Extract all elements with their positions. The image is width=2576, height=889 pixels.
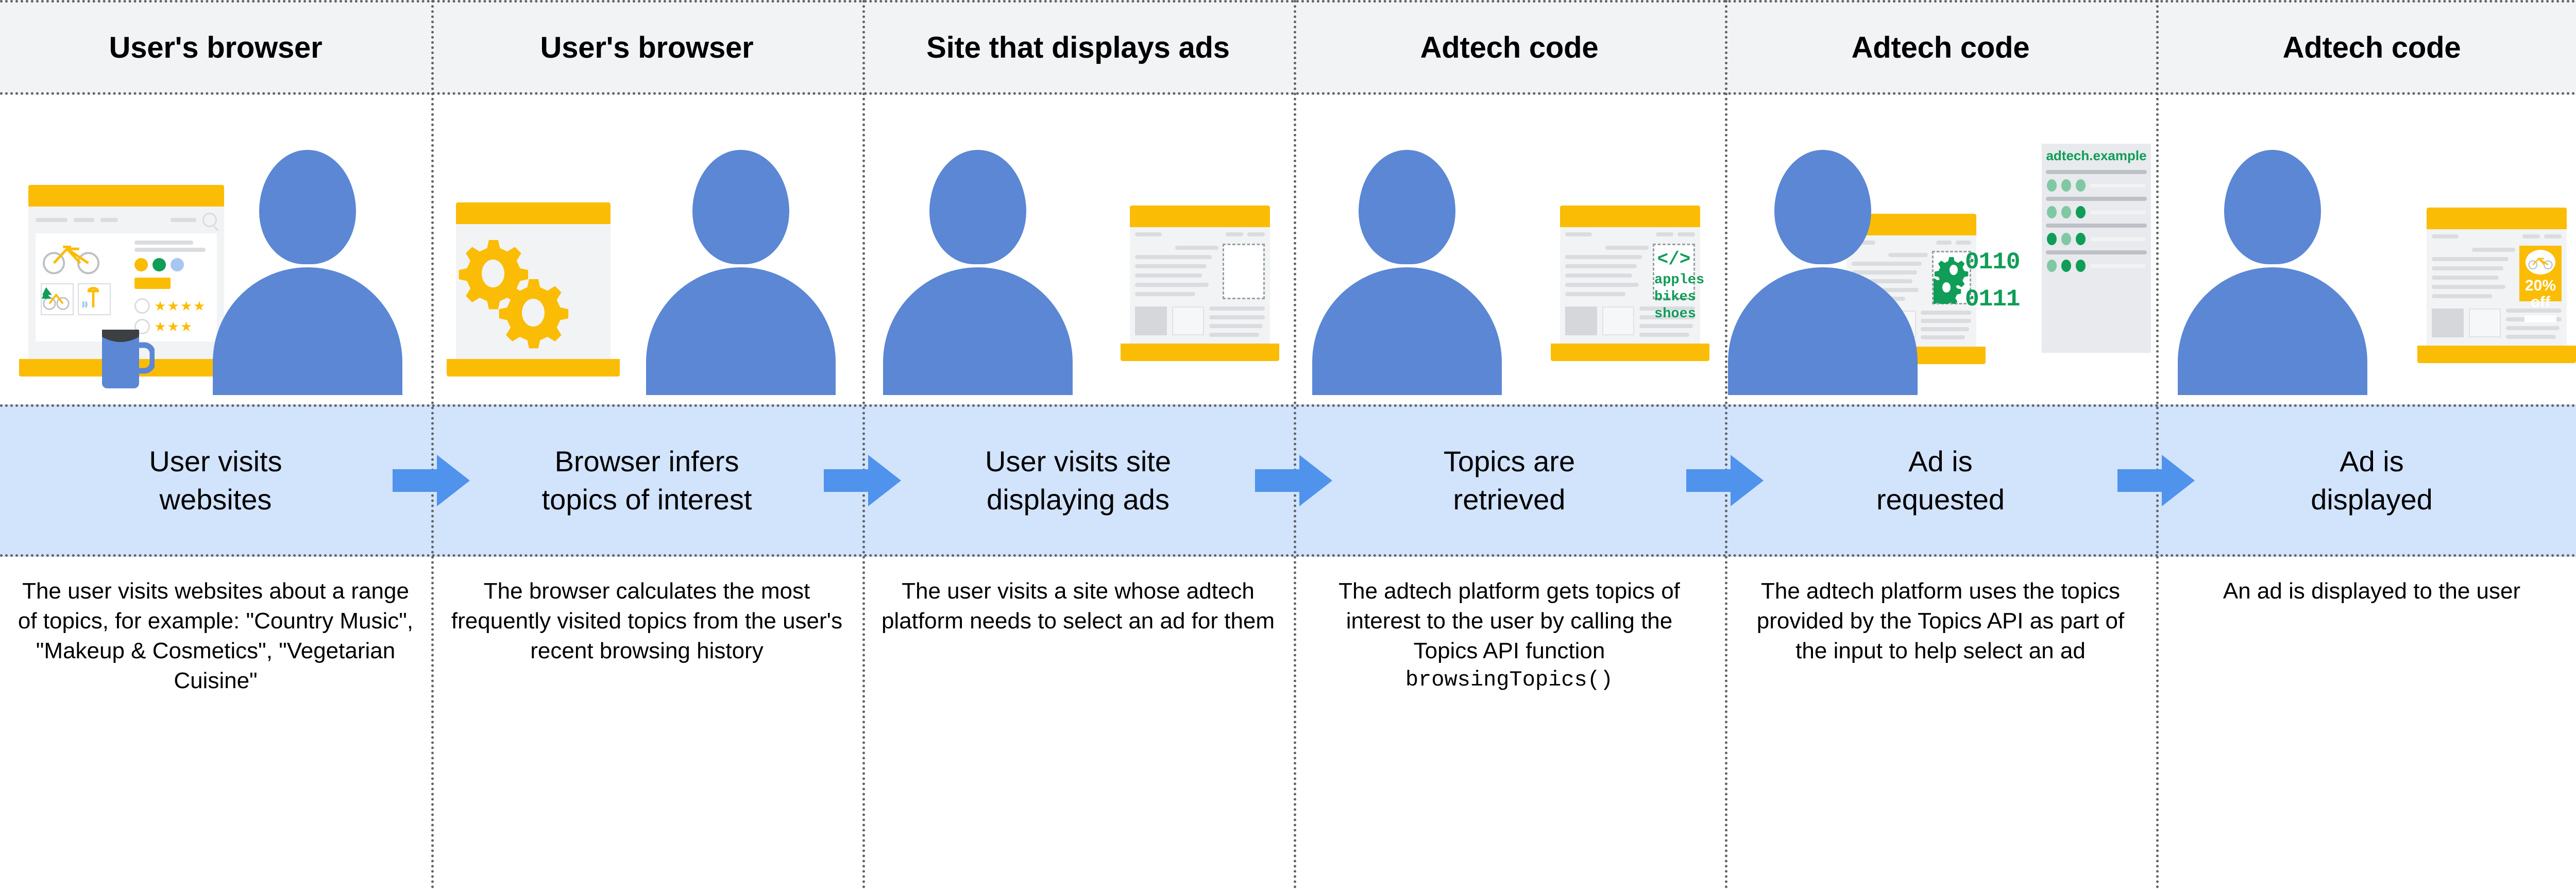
browsing-topics-function: browsingTopics() [1311, 666, 1707, 694]
person-silhouette [883, 150, 1073, 395]
description-cell-3: The user visits a site whose adtech plat… [862, 557, 1294, 889]
right-arrow-icon [824, 453, 901, 508]
column-header-5: Adtech code [1725, 3, 2156, 92]
scene-topics-retrieved: </> apples bikes shoes [1294, 107, 1725, 395]
thumbnail-bike [41, 283, 74, 315]
promo-cta-button[interactable] [2524, 315, 2556, 322]
description-text-5: The adtech platform uses the topics prov… [1742, 576, 2139, 666]
status-dot [2076, 179, 2086, 192]
coffee-mug-icon [99, 320, 155, 395]
person-head [1774, 150, 1871, 264]
description-text-1: The user visits websites about a range o… [18, 576, 414, 696]
server-divider [2046, 197, 2147, 201]
nav-line [1247, 232, 1265, 236]
illustration-cell-3 [862, 95, 1294, 404]
article-line [1639, 333, 1689, 337]
article-line [2506, 335, 2556, 339]
person-silhouette [213, 150, 402, 395]
ad-slot-bike-promo[interactable]: 20% off [2519, 246, 2562, 301]
article-thumb [1602, 306, 1634, 335]
status-dot [2061, 179, 2071, 192]
nav-line [1677, 232, 1695, 236]
article-line [1209, 333, 1259, 337]
flow-arrow-2 [824, 453, 901, 508]
person-body [1312, 267, 1502, 395]
article-thumb [2432, 309, 2464, 337]
buy-button[interactable] [134, 278, 171, 289]
scene-site-with-ad-slot [862, 107, 1294, 395]
illustration-cell-5: 0110 0111 adtech.example [1725, 95, 2156, 404]
browser-base [2417, 346, 2576, 363]
person-body [883, 267, 1073, 395]
browser-content-gears [456, 224, 611, 359]
step-label-5: Ad isrequested [1725, 407, 2156, 554]
adtech-server-panel: adtech.example [2042, 144, 2151, 353]
person-head [1359, 150, 1455, 264]
article-thumb [1565, 306, 1597, 335]
column-header-6: Adtech code [2156, 3, 2576, 92]
browser-titlebar [456, 202, 611, 224]
nav-line [2544, 234, 2562, 238]
article-line [2432, 257, 2509, 261]
product-sub-line [134, 248, 206, 252]
nav-line [1226, 232, 1243, 236]
flow-arrow-5 [2117, 453, 2195, 508]
person-head [2224, 150, 2321, 264]
browser-window-gears [456, 202, 611, 377]
article-line [1175, 246, 1218, 250]
article-line [1209, 306, 1265, 311]
promo-bike-disc [2526, 250, 2555, 275]
description-text-4-prose: The adtech platform gets topics of inter… [1338, 578, 1680, 663]
description-cell-4: The adtech platform gets topics of inter… [1294, 557, 1725, 889]
server-bar [2090, 237, 2146, 241]
person-body [1728, 267, 1918, 395]
product-title-line [134, 241, 193, 245]
nav-line [2522, 234, 2540, 238]
topics-api-flow-diagram: User's browser User's browser Site that … [0, 0, 2576, 889]
browser-base [1551, 344, 1709, 361]
server-row [2042, 204, 2151, 220]
rating-stars: ★★★★ [154, 299, 206, 313]
illustration-cell-4: </> apples bikes shoes [1294, 95, 1725, 404]
ad-slot-code-content: </> apples bikes shoes [1654, 245, 1693, 323]
status-dot [2076, 233, 2086, 245]
person-body [2178, 267, 2367, 395]
status-dot [2076, 260, 2086, 272]
illustration-cell-1: ★★★★ ★★★ [0, 95, 431, 404]
server-bar [2090, 184, 2146, 187]
status-dot [2047, 179, 2057, 192]
description-cell-5: The adtech platform uses the topics prov… [1725, 557, 2156, 889]
person-silhouette [1728, 150, 1918, 395]
topic-shoes: shoes [1654, 306, 1696, 322]
status-dot [2061, 260, 2071, 272]
person-head [929, 150, 1026, 264]
browser-content-article: 20% off [2427, 229, 2567, 346]
ad-slot-topics-code: </> apples bikes shoes [1653, 244, 1695, 299]
person-silhouette [2178, 150, 2367, 395]
column-header-2: User's browser [431, 3, 862, 92]
article-line [1565, 292, 1625, 296]
description-cell-1: The user visits websites about a range o… [0, 557, 431, 889]
status-dot [2047, 260, 2057, 272]
gears-icon [456, 224, 611, 359]
article-line [1135, 292, 1195, 296]
nav-line [36, 218, 67, 222]
description-text-3: The user visits a site whose adtech plat… [880, 576, 1276, 636]
description-cell-2: The browser calculates the most frequent… [431, 557, 862, 889]
status-dot [2047, 206, 2057, 218]
flow-arrow-1 [393, 453, 470, 508]
right-arrow-icon [1255, 453, 1332, 508]
rating-stars: ★★★ [154, 320, 193, 333]
article-line [1565, 273, 1632, 278]
article-line [1135, 255, 1212, 259]
article-line [1921, 327, 1969, 331]
browser-base [1121, 344, 1279, 361]
status-dot [2076, 206, 2086, 218]
status-dot [2061, 206, 2071, 218]
description-cell-6: An ad is displayed to the user [2156, 557, 2576, 889]
article-line [1565, 264, 1637, 268]
server-row [2042, 231, 2151, 247]
right-arrow-icon [2117, 453, 2195, 508]
article-line [2432, 276, 2499, 280]
description-text-2: The browser calculates the most frequent… [449, 576, 845, 666]
nav-line [171, 218, 196, 222]
nav-line [1956, 241, 1971, 245]
step-label-3: User visits sitedisplaying ads [862, 407, 1294, 554]
illustration-cell-6: 20% off [2156, 95, 2576, 404]
scene-ad-requested: 0110 0111 adtech.example [1725, 107, 2156, 395]
step-label-1: User visitswebsites [0, 407, 431, 554]
server-bar [2090, 211, 2146, 214]
color-swatch-green[interactable] [152, 258, 166, 271]
code-brackets-icon: </> [1654, 248, 1693, 271]
column-header-3: Site that displays ads [862, 3, 1294, 92]
status-dot [2047, 233, 2057, 245]
browser-window-article [1130, 206, 1270, 361]
browser-titlebar [1130, 206, 1270, 227]
article-line [1135, 283, 1209, 287]
person-body [646, 267, 836, 395]
header-row: User's browser User's browser Site that … [0, 0, 2576, 95]
ad-slot-empty [1223, 244, 1265, 299]
browser-content-article: </> apples bikes shoes [1560, 227, 1700, 344]
nav-line [1565, 232, 1592, 236]
reviewer-avatar [134, 298, 150, 314]
description-text-4: The adtech platform gets topics of inter… [1311, 576, 1707, 695]
status-dot [2061, 233, 2071, 245]
topic-apples: apples [1654, 272, 1704, 288]
column-header-1: User's browser [0, 3, 431, 92]
browser-window-article: 20% off [2427, 208, 2567, 363]
bicycle-icon [2527, 254, 2554, 270]
illustration-cell-2 [431, 95, 862, 404]
article-thumb [1172, 306, 1204, 335]
article-line [1565, 283, 1639, 287]
article-line [2472, 248, 2515, 252]
description-text-6: An ad is displayed to the user [2174, 576, 2570, 606]
server-row [2042, 258, 2151, 274]
column-header-4: Adtech code [1294, 3, 1725, 92]
article-thumb [2469, 309, 2501, 337]
browser-content-article [1130, 227, 1270, 344]
person-body [213, 267, 402, 395]
binary-stream-upper: 0110 [1965, 249, 2020, 276]
article-line [1921, 311, 1971, 315]
step-label-4: Topics areretrieved [1294, 407, 1725, 554]
nav-line [74, 218, 94, 222]
server-divider [2046, 224, 2147, 228]
article-line [1565, 255, 1642, 259]
right-arrow-icon [1686, 453, 1764, 508]
nav-line [1936, 241, 1952, 245]
nav-line [100, 218, 118, 222]
flow-arrow-3 [1255, 453, 1332, 508]
article-line [1921, 335, 1965, 339]
scene-browser-gears [431, 107, 862, 395]
scene-ad-displayed: 20% off [2156, 107, 2576, 395]
person-head [259, 150, 356, 264]
browser-window-article: </> apples bikes shoes [1560, 206, 1700, 361]
person-head [692, 150, 789, 264]
article-line [1209, 315, 1265, 319]
nav-line [1656, 232, 1673, 236]
server-row [2042, 177, 2151, 194]
nav-line [1135, 232, 1162, 236]
scene-user-browsing-shop: ★★★★ ★★★ [0, 107, 431, 395]
article-thumb [1135, 306, 1167, 335]
promo-discount: 20% [2519, 278, 2562, 294]
person-silhouette [646, 150, 836, 395]
article-line [2432, 285, 2505, 289]
thumbnail-pump [78, 283, 111, 315]
browser-titlebar [1560, 206, 1700, 227]
article-line [1605, 246, 1649, 250]
server-divider [2046, 170, 2147, 174]
article-line [1135, 273, 1202, 278]
step-label-6: Ad isdisplayed [2156, 407, 2576, 554]
right-arrow-icon [393, 453, 470, 508]
article-line [1135, 264, 1207, 268]
article-line [2432, 294, 2492, 298]
article-line [1639, 324, 1693, 328]
binary-stream-lower: 0111 [1965, 286, 2020, 313]
step-label-2: Browser inferstopics of interest [431, 407, 862, 554]
color-swatch-yellow[interactable] [134, 258, 148, 271]
server-bar [2090, 264, 2146, 268]
promo-suffix: off [2519, 294, 2562, 311]
person-silhouette [1312, 150, 1502, 395]
article-line [1209, 324, 1263, 328]
illustration-row: ★★★★ ★★★ [0, 95, 2576, 404]
server-title: adtech.example [2042, 144, 2151, 167]
article-line [2506, 326, 2560, 330]
browser-base [447, 359, 620, 377]
description-row: The user visits websites about a range o… [0, 557, 2576, 889]
color-swatch-blue[interactable] [171, 258, 184, 271]
nav-line [2432, 234, 2459, 238]
flow-arrow-4 [1686, 453, 1764, 508]
article-line [1921, 319, 1971, 323]
browser-titlebar [28, 185, 224, 207]
server-divider [2046, 250, 2147, 254]
article-line [2432, 266, 2503, 270]
browser-titlebar [2427, 208, 2567, 229]
topic-bikes: bikes [1654, 289, 1696, 305]
bicycle-icon [41, 238, 101, 275]
